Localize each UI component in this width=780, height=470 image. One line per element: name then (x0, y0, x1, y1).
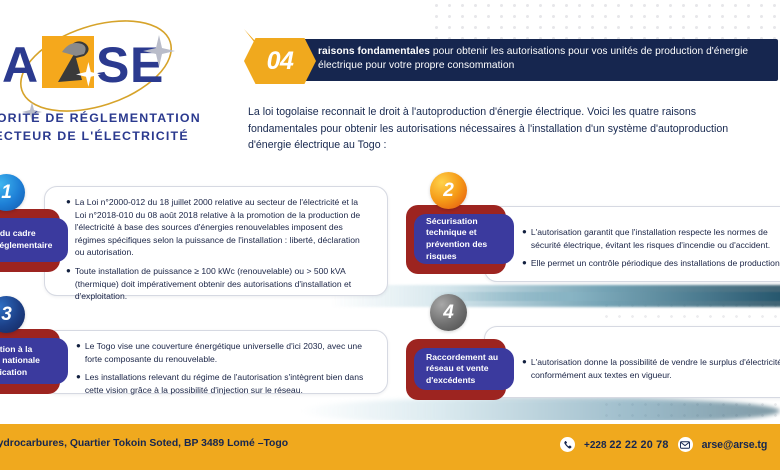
card-1-pill: Respect du cadre légal et réglementaire (0, 218, 68, 262)
bullet-dot-icon: ● (522, 356, 527, 381)
footer-email: arse@arse.tg (702, 439, 768, 451)
bullet-dot-icon: ● (522, 257, 527, 270)
svg-text:S: S (96, 37, 129, 93)
bullet-dot-icon: ● (76, 371, 81, 396)
logo-tagline-line1: AUTORITÉ DE RÉGLEMENTATION (0, 110, 201, 125)
card-3-label-text: Contribution à la stratégie nationale d'… (0, 344, 68, 379)
card-1-bullet-1: ● Toute installation de puissance ≥ 100 … (66, 265, 362, 303)
card-2-bullet-0-text: L'autorisation garantit que l'installati… (531, 226, 780, 251)
mail-icon (678, 437, 693, 452)
bullet-dot-icon: ● (76, 340, 81, 365)
infographic-canvas: A S E AUTORITÉ DE RÉGLEMENTATION DU SECT… (0, 0, 780, 470)
card-2-label-text: Sécurisation technique et prévention des… (414, 216, 514, 262)
card-4-bullet-0: ● L'autorisation donne la possibilité de… (522, 356, 780, 381)
card-3-number-badge: 3 (0, 296, 25, 333)
card-3-bullet-1: ● Les installations relevant du régime d… (76, 371, 368, 396)
arse-logo: A S E AUTORITÉ DE RÉGLEMENTATION DU SECT… (0, 14, 218, 154)
intro-paragraph: La loi togolaise reconnait le droit à l'… (248, 104, 760, 154)
card-2-label-pill: Sécurisation technique et prévention des… (414, 214, 514, 264)
svg-text:A: A (2, 37, 38, 93)
card-4-bullets: ● L'autorisation donne la possibilité de… (522, 356, 780, 381)
header-banner: raisons fondamentales pour obtenir les a… (238, 36, 778, 84)
header-title-bold: raisons fondamentales (318, 46, 430, 57)
badge-number-text: 04 (244, 38, 316, 84)
footer-phone: +228 22 22 20 78 (584, 439, 669, 451)
footer-address: Rue des hydrocarbures, Quartier Tokoin S… (0, 438, 378, 449)
card-4-pill: Raccordement au réseau et vente d'excéde… (414, 348, 514, 390)
card-3-pill: Contribution à la stratégie nationale d'… (0, 338, 68, 384)
card-2-bullet-0: ● L'autorisation garantit que l'installa… (522, 226, 780, 251)
card-4-label-text: Raccordement au réseau et vente d'excéde… (414, 352, 514, 387)
bullet-dot-icon: ● (66, 265, 71, 303)
card-4-bullet-0-text: L'autorisation donne la possibilité de v… (531, 356, 780, 381)
header-title: raisons fondamentales pour obtenir les a… (318, 45, 770, 74)
card-2-pill: Sécurisation technique et prévention des… (414, 214, 514, 264)
footer-bar: Rue des hydrocarbures, Quartier Tokoin S… (0, 424, 780, 470)
header-number-badge: 04 (238, 36, 322, 86)
card-3-bullet-0-text: Le Togo vise une couverture énergétique … (85, 340, 368, 365)
card-2-bullet-1-text: Elle permet un contrôle périodique des i… (531, 257, 780, 270)
card-3-bullets: ● Le Togo vise une couverture énergétiqu… (76, 340, 368, 396)
card-1-bullet-0-text: La Loi n°2000-012 du 18 juillet 2000 rel… (75, 196, 362, 259)
phone-icon (560, 437, 575, 452)
card-1-bullet-1-text: Toute installation de puissance ≥ 100 kW… (75, 265, 362, 303)
logo-tagline-line2: DU SECTEUR DE L'ÉLECTRICITÉ (0, 128, 189, 143)
card-4-number-badge: 4 (430, 294, 467, 331)
bullet-dot-icon: ● (522, 226, 527, 251)
card-2-number-badge: 2 (430, 172, 467, 209)
card-1-label-pill: Respect du cadre légal et réglementaire (0, 218, 68, 262)
card-4-label-pill: Raccordement au réseau et vente d'excéde… (414, 348, 514, 390)
card-3-label-pill: Contribution à la stratégie nationale d'… (0, 338, 68, 384)
card-1-label-text: Respect du cadre légal et réglementaire (0, 228, 68, 251)
teal-swoosh-accent-decoration (430, 292, 780, 301)
card-3-bullet-0: ● Le Togo vise une couverture énergétiqu… (76, 340, 368, 365)
card-1-bullet-0: ● La Loi n°2000-012 du 18 juillet 2000 r… (66, 196, 362, 259)
footer-phone-number: 22 22 20 78 (609, 439, 668, 451)
card-3-bullet-1-text: Les installations relevant du régime de … (85, 371, 368, 396)
card-1-bullets: ● La Loi n°2000-012 du 18 juillet 2000 r… (66, 196, 362, 303)
footer-contact-group: +228 22 22 20 78 arse@arse.tg (560, 437, 767, 452)
footer-phone-prefix: +228 (584, 440, 609, 451)
card-1-number-badge: 1 (0, 174, 25, 211)
card-2-bullet-1: ● Elle permet un contrôle périodique des… (522, 257, 780, 270)
card-2-bullets: ● L'autorisation garantit que l'installa… (522, 226, 780, 270)
